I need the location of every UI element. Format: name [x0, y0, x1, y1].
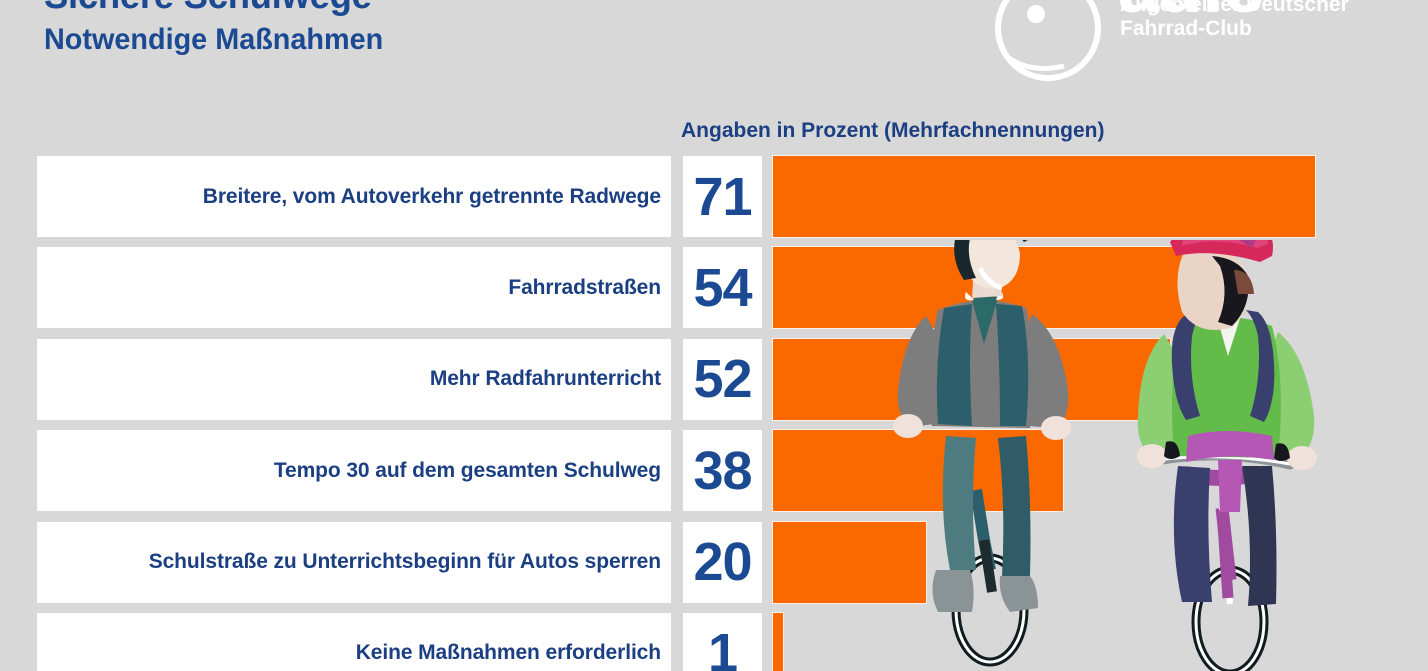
chart-row: Mehr Radfahrunterricht52 [0, 339, 1428, 420]
chart-row: Keine Maßnahmen erforderlich1 [0, 613, 1428, 671]
chart-row: Tempo 30 auf dem gesamten Schulweg38 [0, 430, 1428, 511]
adfc-tagline-line1: Allgemeiner Deutscher [1120, 0, 1349, 17]
title-sub-line: Notwendige Maßnahmen [44, 22, 383, 58]
title-main-line: Sichere Schulwege [44, 0, 383, 16]
adfc-logo: adfc Allgemeiner Deutscher Fahrrad-Club [990, 0, 1390, 82]
row-value-box: 38 [683, 430, 762, 511]
row-value-box: 71 [683, 156, 762, 237]
bar [773, 339, 1170, 420]
chart-legend-note: Angaben in Prozent (Mehrfachnennungen) [681, 119, 1105, 143]
row-label-box: Tempo 30 auf dem gesamten Schulweg [37, 430, 671, 511]
row-label-box: Fahrradstraßen [37, 247, 671, 328]
chart-row: Schulstraße zu Unterrichtsbeginn für Aut… [0, 522, 1428, 603]
row-value-box: 1 [683, 613, 762, 671]
page-title: Sichere Schulwege Notwendige Maßnahmen [44, 0, 397, 58]
bar [773, 613, 783, 671]
row-label: Schulstraße zu Unterrichtsbeginn für Aut… [149, 550, 671, 574]
bar [773, 247, 1185, 328]
infographic-canvas: Sichere Schulwege Notwendige Maßnahmen a… [0, 0, 1428, 671]
row-label-box: Breitere, vom Autoverkehr getrennte Radw… [37, 156, 671, 237]
chart-row: Fahrradstraßen54 [0, 247, 1428, 328]
row-label: Tempo 30 auf dem gesamten Schulweg [274, 459, 671, 483]
row-label: Fahrradstraßen [508, 276, 671, 300]
chart-rows: Breitere, vom Autoverkehr getrennte Radw… [0, 156, 1428, 671]
row-label: Keine Maßnahmen erforderlich [356, 641, 671, 665]
row-value: 54 [693, 261, 751, 315]
row-label-box: Mehr Radfahrunterricht [37, 339, 671, 420]
bar [773, 522, 926, 603]
row-label-box: Keine Maßnahmen erforderlich [37, 613, 671, 671]
row-value: 52 [693, 352, 751, 406]
bar [773, 156, 1315, 237]
row-value: 20 [693, 535, 751, 589]
row-value: 1 [708, 626, 737, 671]
row-value-box: 54 [683, 247, 762, 328]
row-label: Mehr Radfahrunterricht [430, 367, 671, 391]
row-label-box: Schulstraße zu Unterrichtsbeginn für Aut… [37, 522, 671, 603]
bar [773, 430, 1063, 511]
chart-row: Breitere, vom Autoverkehr getrennte Radw… [0, 156, 1428, 237]
bicycle-wheel-icon [990, 0, 1106, 86]
row-value-box: 20 [683, 522, 762, 603]
row-value: 38 [693, 444, 751, 498]
row-value-box: 52 [683, 339, 762, 420]
row-value: 71 [693, 170, 751, 224]
adfc-tagline-line2: Fahrrad-Club [1120, 16, 1252, 41]
row-label: Breitere, vom Autoverkehr getrennte Radw… [203, 185, 671, 209]
